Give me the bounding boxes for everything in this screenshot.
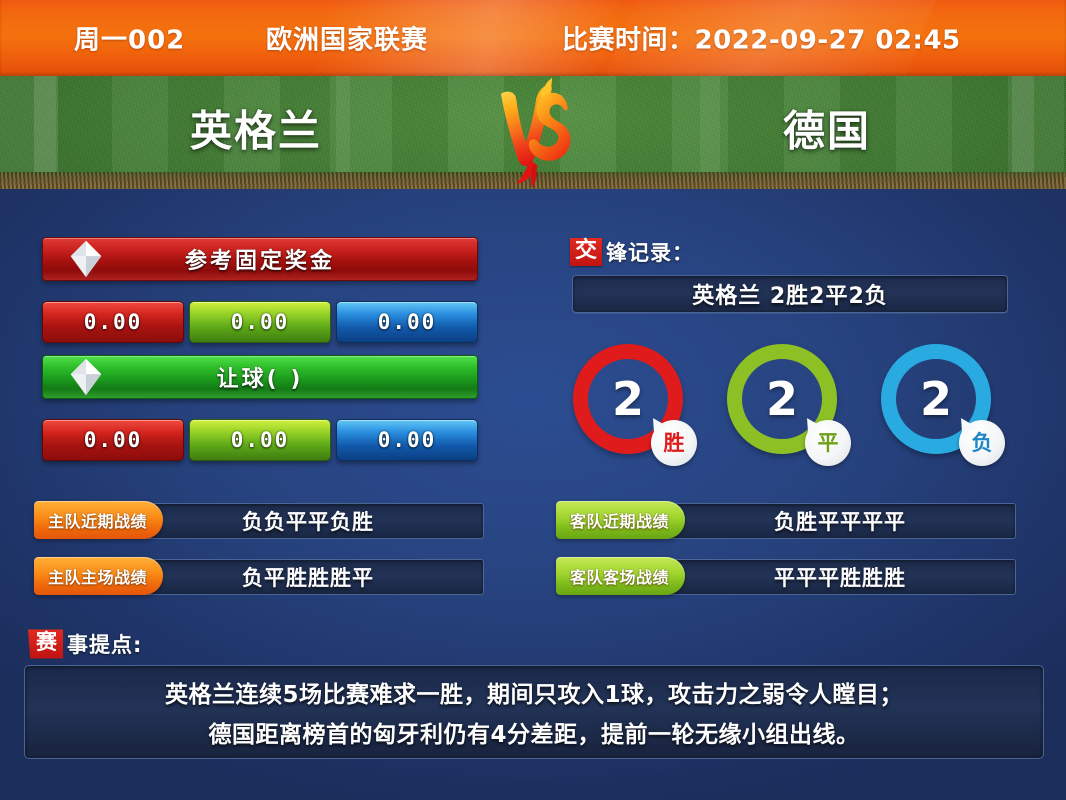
diamond-gem-icon xyxy=(65,238,107,280)
form-row-away-at-away: 平平平胜胜胜 客队客场战绩 xyxy=(556,557,1014,595)
stats-body: 参考固定奖金 0.00 0.00 0.00 让球( ) 0.00 0.00 xyxy=(0,189,1066,800)
handicap-odds-header: 让球( ) xyxy=(42,355,478,399)
form-tab-label: 主队主场战绩 xyxy=(48,564,147,588)
odds-value: 0.00 xyxy=(378,428,437,452)
analysis-title-rest: 事提点: xyxy=(67,629,142,659)
analysis-title-tag: 赛 xyxy=(28,629,63,658)
form-value-text: 负胜平平平平 xyxy=(774,506,906,536)
form-tab-label: 客队近期战绩 xyxy=(570,508,669,532)
match-round-label: 周一002 xyxy=(74,20,185,57)
odds-button-away-win[interactable]: 0.00 xyxy=(336,301,478,343)
away-team-name: 德国 xyxy=(783,97,871,158)
odds-value: 0.00 xyxy=(84,310,143,334)
diamond-gem-icon xyxy=(65,356,107,398)
odds-button-draw[interactable]: 0.00 xyxy=(189,301,331,343)
form-row-home-at-home: 负平胜胜胜平 主队主场战绩 xyxy=(34,557,482,595)
h2h-ring-losses: 2 负 xyxy=(881,344,991,454)
vs-flame-icon xyxy=(478,78,590,190)
analysis-title: 赛 事提点: xyxy=(28,629,142,659)
h2h-ring-wins: 2 胜 xyxy=(573,344,683,454)
match-preview-card: 周一002 欧洲国家联赛 比赛时间：2022-09-27 02:45 英格兰 德… xyxy=(0,0,1066,800)
form-value-container: 平平平胜胜胜 xyxy=(664,559,1016,595)
h2h-summary-bar: 英格兰 2胜2平2负 xyxy=(572,275,1008,313)
form-value-container: 负平胜胜胜平 xyxy=(132,559,484,595)
form-row-home-recent: 负负平平负胜 主队近期战绩 xyxy=(34,501,482,539)
home-team-name: 英格兰 xyxy=(190,97,322,158)
handicap-odds-header-label: 让球( ) xyxy=(217,361,304,393)
odds-button-handicap-home-win[interactable]: 0.00 xyxy=(42,419,184,461)
form-tab-home-at-home: 主队主场战绩 xyxy=(34,557,163,595)
form-value-text: 负负平平负胜 xyxy=(242,506,374,536)
odds-button-handicap-away-win[interactable]: 0.00 xyxy=(336,419,478,461)
ring-count: 2 xyxy=(727,376,837,422)
analysis-line-1: 英格兰连续5场比赛难求一胜，期间只攻入1球，攻击力之弱令人瞠目； xyxy=(165,675,903,709)
analysis-content-box: 英格兰连续5场比赛难求一胜，期间只攻入1球，攻击力之弱令人瞠目； 德国距离榜首的… xyxy=(24,665,1044,759)
h2h-title: 交 锋记录： xyxy=(570,237,694,267)
odds-button-home-win[interactable]: 0.00 xyxy=(42,301,184,343)
ring-label-text: 负 xyxy=(972,433,993,454)
ring-label-text: 胜 xyxy=(664,433,685,454)
form-row-away-recent: 负胜平平平平 客队近期战绩 xyxy=(556,501,1014,539)
form-value-container: 负胜平平平平 xyxy=(664,503,1016,539)
fixed-odds-header-label: 参考固定奖金 xyxy=(185,243,335,275)
ring-label-bubble: 平 xyxy=(805,420,851,466)
ring-count: 2 xyxy=(881,376,991,422)
form-value-container: 负负平平负胜 xyxy=(132,503,484,539)
h2h-title-tag: 交 xyxy=(570,238,602,265)
h2h-title-rest: 锋记录： xyxy=(606,237,694,267)
odds-value: 0.00 xyxy=(84,428,143,452)
odds-value: 0.00 xyxy=(231,428,290,452)
form-tab-label: 客队客场战绩 xyxy=(570,564,669,588)
match-time-label: 比赛时间：2022-09-27 02:45 xyxy=(562,20,961,57)
h2h-ring-draws: 2 平 xyxy=(727,344,837,454)
h2h-summary-text: 英格兰 2胜2平2负 xyxy=(692,278,888,310)
form-tab-home-recent: 主队近期战绩 xyxy=(34,501,163,539)
ring-label-bubble: 负 xyxy=(959,420,1005,466)
match-header-bar: 周一002 欧洲国家联赛 比赛时间：2022-09-27 02:45 xyxy=(0,0,1066,76)
ring-label-text: 平 xyxy=(818,433,839,454)
form-value-text: 平平平胜胜胜 xyxy=(774,562,906,592)
league-name-label: 欧洲国家联赛 xyxy=(266,20,428,57)
odds-value: 0.00 xyxy=(231,310,290,334)
form-value-text: 负平胜胜胜平 xyxy=(242,562,374,592)
ring-label-bubble: 胜 xyxy=(651,420,697,466)
form-tab-away-recent: 客队近期战绩 xyxy=(556,501,685,539)
ring-count: 2 xyxy=(573,376,683,422)
form-tab-away-at-away: 客队客场战绩 xyxy=(556,557,685,595)
form-tab-label: 主队近期战绩 xyxy=(48,508,147,532)
odds-button-handicap-draw[interactable]: 0.00 xyxy=(189,419,331,461)
odds-value: 0.00 xyxy=(378,310,437,334)
fixed-odds-header: 参考固定奖金 xyxy=(42,237,478,281)
analysis-line-2: 德国距离榜首的匈牙利仍有4分差距，提前一轮无缘小组出线。 xyxy=(208,715,859,749)
